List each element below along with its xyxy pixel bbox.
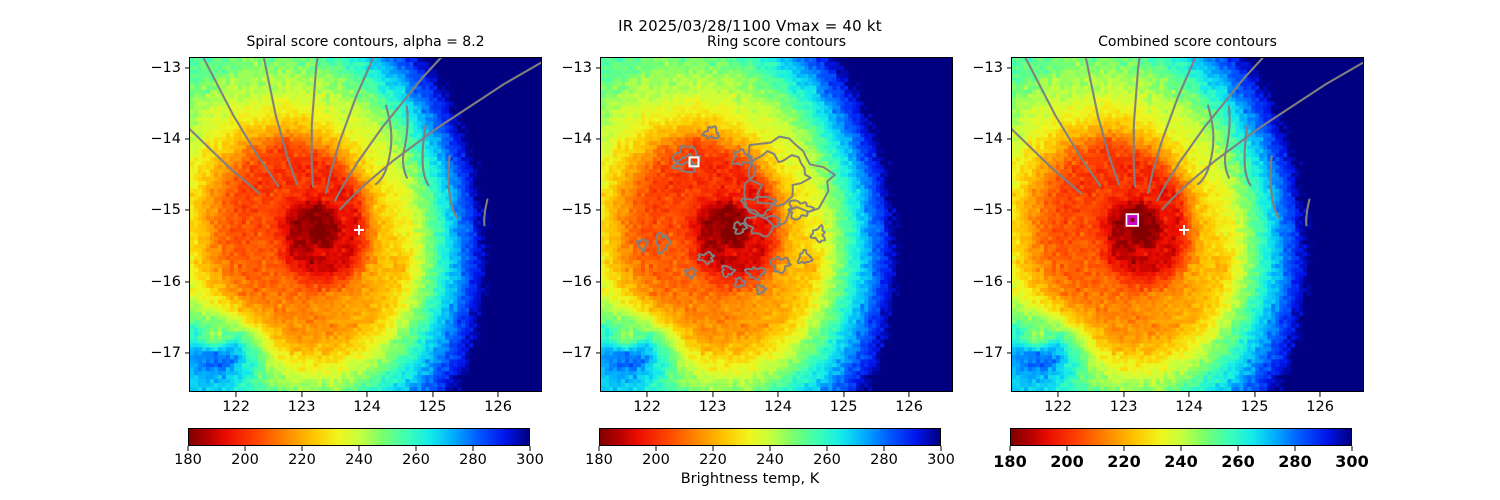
- x-tick-label: 122: [1044, 399, 1072, 415]
- colorbar-tick-label: 280: [1278, 452, 1311, 471]
- y-tick-mark: [185, 281, 190, 282]
- figure-suptitle: IR 2025/03/28/1100 Vmax = 40 kt: [0, 17, 1500, 35]
- colorbar-tick-mark: [1295, 446, 1296, 451]
- y-tick-mark: [185, 67, 190, 68]
- colorbar-ring: [599, 428, 941, 446]
- x-tick-label: 124: [353, 399, 381, 415]
- x-tick-mark: [301, 392, 302, 397]
- x-tick-mark: [1123, 392, 1124, 397]
- colorbar-tick-mark: [1352, 446, 1353, 451]
- y-tick-mark: [596, 67, 601, 68]
- y-tick-mark: [596, 138, 601, 139]
- y-tick-mark: [1007, 210, 1012, 211]
- x-tick-mark: [1058, 392, 1059, 397]
- x-tick-label: 122: [222, 399, 250, 415]
- y-tick-label: −16: [972, 274, 1003, 290]
- colorbar-tick-mark: [188, 446, 189, 451]
- panel-combined: Combined score contours−13−14−15−16−1712…: [1011, 57, 1364, 392]
- panel-ring: Ring score contours−13−14−15−16−17122123…: [600, 57, 953, 392]
- colorbar-tick-label: 260: [813, 452, 841, 468]
- plot-area-ring[interactable]: [600, 57, 953, 392]
- panel-title-combined: Combined score contours: [971, 34, 1404, 50]
- colorbar-tick-label: 220: [288, 452, 316, 468]
- y-tick-label: −14: [561, 131, 592, 147]
- colorbar-tick-mark: [359, 446, 360, 451]
- x-tick-label: 125: [419, 399, 447, 415]
- colorbar-tick-label: 300: [516, 452, 544, 468]
- colorbar-tick-label: 200: [231, 452, 259, 468]
- plot-area-spiral[interactable]: [189, 57, 542, 392]
- colorbar-tick-label: 200: [1050, 452, 1083, 471]
- x-tick-label: 123: [288, 399, 316, 415]
- x-tick-mark: [1320, 392, 1321, 397]
- colorbar-tick-label: 220: [699, 452, 727, 468]
- colorbar-tick-label: 260: [402, 452, 430, 468]
- x-tick-mark: [647, 392, 648, 397]
- y-tick-mark: [1007, 138, 1012, 139]
- y-tick-mark: [1007, 352, 1012, 353]
- x-tick-label: 124: [764, 399, 792, 415]
- x-tick-mark: [498, 392, 499, 397]
- y-tick-label: −13: [972, 60, 1003, 76]
- x-tick-label: 125: [1241, 399, 1269, 415]
- y-tick-label: −14: [150, 131, 181, 147]
- y-tick-mark: [596, 352, 601, 353]
- colorbar-tick-label: 240: [756, 452, 784, 468]
- colorbar-tick-label: 300: [927, 452, 955, 468]
- colorbar-spiral: [188, 428, 530, 446]
- y-tick-label: −14: [972, 131, 1003, 147]
- colorbar-tick-mark: [713, 446, 714, 451]
- colorbar-gradient-ring: [600, 429, 940, 445]
- colorbar-tick-label: 240: [345, 452, 373, 468]
- colorbar-axis-label: Brightness temp, K: [0, 471, 1500, 487]
- y-tick-label: −16: [150, 274, 181, 290]
- ir-brightness-raster: [601, 58, 952, 391]
- y-tick-label: −13: [561, 60, 592, 76]
- y-tick-mark: [185, 138, 190, 139]
- panel-title-spiral: Spiral score contours, alpha = 8.2: [149, 34, 582, 50]
- ir-brightness-raster: [190, 58, 541, 391]
- x-tick-mark: [236, 392, 237, 397]
- colorbar-tick-mark: [245, 446, 246, 451]
- x-tick-mark: [367, 392, 368, 397]
- ir-brightness-raster: [1012, 58, 1363, 391]
- colorbar-tick-mark: [827, 446, 828, 451]
- colorbar-tick-mark: [302, 446, 303, 451]
- colorbar-tick-label: 220: [1107, 452, 1140, 471]
- colorbar-tick-mark: [656, 446, 657, 451]
- x-tick-label: 126: [484, 399, 512, 415]
- y-tick-label: −15: [972, 202, 1003, 218]
- colorbar-tick-mark: [530, 446, 531, 451]
- colorbar-tick-mark: [416, 446, 417, 451]
- colorbar-gradient-spiral: [189, 429, 529, 445]
- y-tick-mark: [596, 281, 601, 282]
- colorbar-tick-label: 180: [174, 452, 202, 468]
- y-tick-mark: [1007, 281, 1012, 282]
- x-tick-mark: [712, 392, 713, 397]
- colorbar-tick-mark: [1181, 446, 1182, 451]
- colorbar-combined: [1010, 428, 1352, 446]
- colorbar-tick-mark: [1124, 446, 1125, 451]
- figure-canvas: IR 2025/03/28/1100 Vmax = 40 kt Brightne…: [0, 0, 1500, 500]
- colorbar-tick-label: 280: [459, 452, 487, 468]
- colorbar-tick-label: 300: [1335, 452, 1368, 471]
- x-tick-label: 123: [699, 399, 727, 415]
- colorbar-tick-label: 260: [1221, 452, 1254, 471]
- colorbar-tick-mark: [1238, 446, 1239, 451]
- x-tick-mark: [432, 392, 433, 397]
- y-tick-mark: [185, 352, 190, 353]
- colorbar-tick-mark: [941, 446, 942, 451]
- colorbar-tick-label: 200: [642, 452, 670, 468]
- y-tick-mark: [1007, 67, 1012, 68]
- y-tick-label: −17: [972, 345, 1003, 361]
- colorbar-tick-mark: [473, 446, 474, 451]
- y-tick-mark: [596, 210, 601, 211]
- y-tick-label: −17: [561, 345, 592, 361]
- y-tick-label: −15: [150, 202, 181, 218]
- colorbar-gradient-combined: [1011, 429, 1351, 445]
- x-tick-mark: [843, 392, 844, 397]
- x-tick-label: 125: [830, 399, 858, 415]
- colorbar-tick-label: 180: [993, 452, 1026, 471]
- colorbar-tick-mark: [1010, 446, 1011, 451]
- y-tick-label: −15: [561, 202, 592, 218]
- x-tick-label: 126: [895, 399, 923, 415]
- x-tick-label: 126: [1306, 399, 1334, 415]
- plot-area-combined[interactable]: [1011, 57, 1364, 392]
- colorbar-tick-mark: [770, 446, 771, 451]
- y-tick-mark: [185, 210, 190, 211]
- colorbar-tick-mark: [1067, 446, 1068, 451]
- x-tick-mark: [1189, 392, 1190, 397]
- x-tick-label: 123: [1110, 399, 1138, 415]
- y-tick-label: −13: [150, 60, 181, 76]
- panel-title-ring: Ring score contours: [560, 34, 993, 50]
- x-tick-label: 124: [1175, 399, 1203, 415]
- colorbar-tick-label: 180: [585, 452, 613, 468]
- x-tick-mark: [909, 392, 910, 397]
- y-tick-label: −16: [561, 274, 592, 290]
- colorbar-tick-mark: [884, 446, 885, 451]
- colorbar-tick-label: 280: [870, 452, 898, 468]
- x-tick-mark: [778, 392, 779, 397]
- panel-spiral: Spiral score contours, alpha = 8.2−13−14…: [189, 57, 542, 392]
- y-tick-label: −17: [150, 345, 181, 361]
- x-tick-label: 122: [633, 399, 661, 415]
- colorbar-tick-mark: [599, 446, 600, 451]
- x-tick-mark: [1254, 392, 1255, 397]
- colorbar-tick-label: 240: [1164, 452, 1197, 471]
